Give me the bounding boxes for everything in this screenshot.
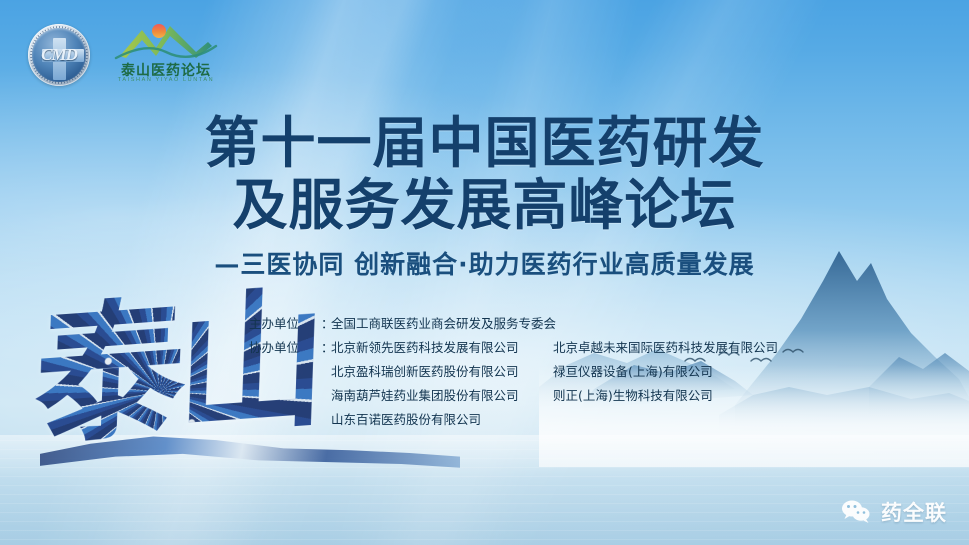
coorganizer-row: 协办单位 ： 北京新领先医药科技发展有限公司 北京卓越未来国际医药科技发展有限公… [249, 336, 778, 360]
coorganizer-row: 山东百诺医药股份有限公司 [249, 408, 778, 432]
row-indent [249, 384, 331, 408]
sun-icon [152, 24, 166, 38]
coorganizer-name: 北京新领先医药科技发展有限公司 [331, 336, 553, 360]
row-indent [249, 408, 331, 432]
taishan-logo-en-text: TAISHAN YIYAO LUNTAN [112, 77, 220, 83]
title-line-1: 第十一届中国医药研发 [0, 112, 969, 174]
coorganizer-label: 协办单位 [249, 336, 321, 360]
host-row: 主办单位 ： 全国工商联医药业商会研发及服务专委会 [249, 312, 778, 336]
mountain-peaks-icon [112, 22, 220, 60]
coorganizer-row: 北京盈科瑞创新医药股份有限公司 禄亘仪器设备(上海)有限公司 [249, 360, 778, 384]
conference-poster: 泰山 CMD [0, 0, 969, 545]
poster-subtitle: —三医协同 创新融合·助力医药行业高质量发展 [0, 250, 969, 280]
host-colon: ： [321, 312, 331, 336]
coorganizer-name: 北京盈科瑞创新医药股份有限公司 [331, 360, 553, 384]
header-logos: CMD 泰山医药论坛 TAISH [28, 22, 220, 88]
coorganizer-colon: ： [321, 336, 331, 360]
cmd-emblem-letters: CMD [32, 28, 86, 82]
coorganizer-name: 禄亘仪器设备(上海)有限公司 [553, 360, 713, 384]
cmd-emblem-icon: CMD [28, 24, 90, 86]
wechat-icon [840, 499, 872, 525]
taishan-forum-logo: 泰山医药论坛 TAISHAN YIYAO LUNTAN [112, 22, 220, 88]
coorganizer-name: 海南葫芦娃药业集团股份有限公司 [331, 384, 553, 408]
wechat-account-name: 药全联 [881, 497, 947, 527]
cmd-emblem-inner-disc: CMD [32, 28, 86, 82]
wechat-watermark: 药全联 [840, 497, 947, 527]
coorganizer-name: 北京卓越未来国际医药科技发展有限公司 [553, 336, 778, 360]
row-indent [249, 360, 331, 384]
poster-title-block: 第十一届中国医药研发 及服务发展高峰论坛 —三医协同 创新融合·助力医药行业高质… [0, 112, 969, 280]
coorganizer-name: 则正(上海)生物科技有限公司 [553, 384, 713, 408]
coorganizer-name: 山东百诺医药股份有限公司 [331, 408, 553, 432]
organizers-block: 主办单位 ： 全国工商联医药业商会研发及服务专委会 协办单位 ： 北京新领先医药… [249, 312, 778, 432]
host-value: 全国工商联医药业商会研发及服务专委会 [331, 312, 556, 336]
host-label: 主办单位 [249, 312, 321, 336]
coorganizer-row: 海南葫芦娃药业集团股份有限公司 则正(上海)生物科技有限公司 [249, 384, 778, 408]
title-line-2: 及服务发展高峰论坛 [0, 174, 969, 236]
